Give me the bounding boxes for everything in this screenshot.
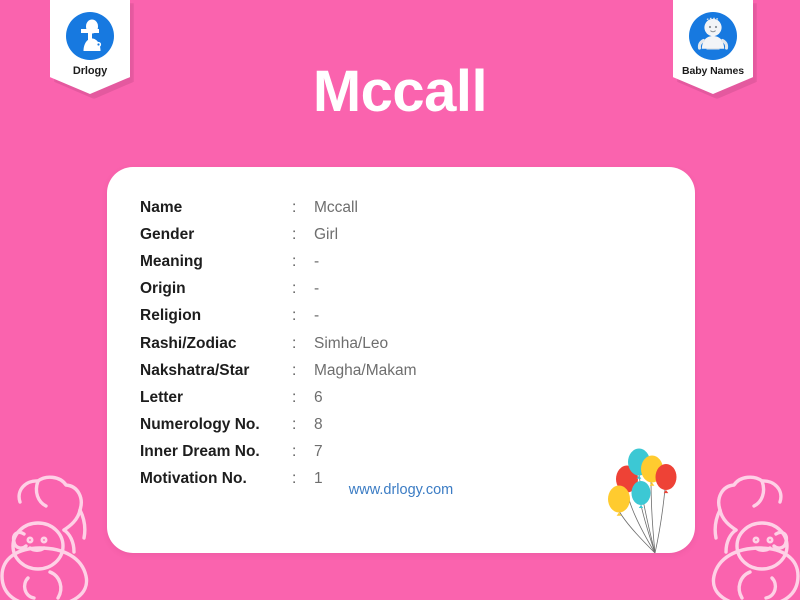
row-separator: : <box>292 357 314 384</box>
row-label: Rashi/Zodiac <box>140 330 292 357</box>
row-separator: : <box>292 330 314 357</box>
row-value: Magha/Makam <box>314 357 417 384</box>
row-value: 7 <box>314 439 417 466</box>
row-label: Name <box>140 194 292 221</box>
table-row: Inner Dream No. : 7 <box>140 439 417 466</box>
table-row: Nakshatra/Star : Magha/Makam <box>140 357 417 384</box>
baby-badge-icon <box>686 9 740 63</box>
row-value: Simha/Leo <box>314 330 417 357</box>
page-title: Mccall <box>0 62 800 123</box>
row-separator: : <box>292 412 314 439</box>
decoration-mother-baby-right <box>694 472 800 600</box>
row-separator: : <box>292 439 314 466</box>
row-separator: : <box>292 276 314 303</box>
row-label: Gender <box>140 221 292 248</box>
row-separator: : <box>292 384 314 411</box>
row-label: Origin <box>140 276 292 303</box>
table-row: Origin : - <box>140 276 417 303</box>
row-label: Letter <box>140 384 292 411</box>
row-value: 6 <box>314 384 417 411</box>
row-separator: : <box>292 221 314 248</box>
table-row: Gender : Girl <box>140 221 417 248</box>
row-value: - <box>314 276 417 303</box>
row-value: 8 <box>314 412 417 439</box>
table-row: Rashi/Zodiac : Simha/Leo <box>140 330 417 357</box>
table-row: Religion : - <box>140 303 417 330</box>
table-row: Meaning : - <box>140 248 417 275</box>
table-row: Numerology No. : 8 <box>140 412 417 439</box>
name-details-card: Name : Mccall Gender : Girl Meaning : - … <box>107 167 695 553</box>
row-label: Inner Dream No. <box>140 439 292 466</box>
row-value: - <box>314 248 417 275</box>
row-separator: : <box>292 248 314 275</box>
name-details-table: Name : Mccall Gender : Girl Meaning : - … <box>140 194 417 493</box>
website-link[interactable]: www.drlogy.com <box>107 482 695 498</box>
row-label: Nakshatra/Star <box>140 357 292 384</box>
row-label: Meaning <box>140 248 292 275</box>
row-value: Mccall <box>314 194 417 221</box>
row-separator: : <box>292 303 314 330</box>
table-row: Letter : 6 <box>140 384 417 411</box>
row-separator: : <box>292 194 314 221</box>
doctor-badge-icon <box>63 9 117 63</box>
balloons-icon <box>603 445 689 553</box>
row-label: Numerology No. <box>140 412 292 439</box>
row-label: Religion <box>140 303 292 330</box>
table-row: Name : Mccall <box>140 194 417 221</box>
row-value: - <box>314 303 417 330</box>
decoration-mother-baby-left <box>0 472 106 600</box>
row-value: Girl <box>314 221 417 248</box>
